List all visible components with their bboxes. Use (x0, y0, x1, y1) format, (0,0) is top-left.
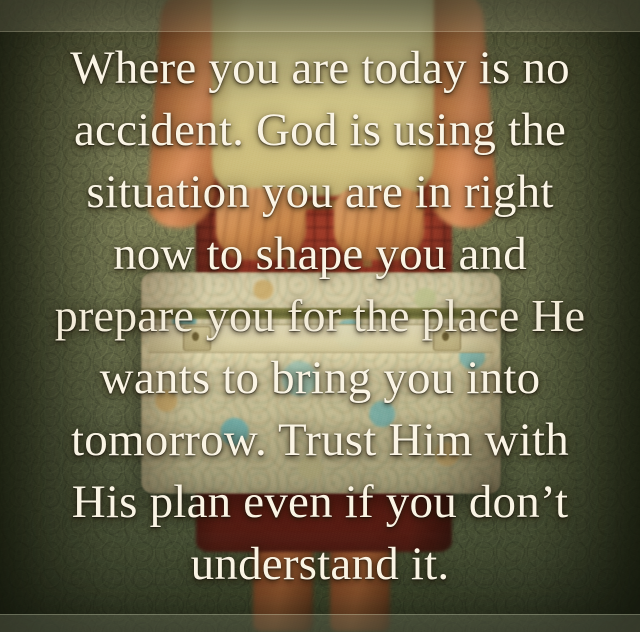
quote-line-2: accident. God is using the (0, 99, 640, 161)
quote-line-5: prepare you for the place He (0, 285, 640, 347)
quote-line-7: tomorrow. Trust Him with (0, 409, 640, 471)
quote-line-4: now to shape you and (0, 223, 640, 285)
quote-line-6: wants to bring you into (0, 347, 640, 409)
quote-line-1: Where you are today is no (0, 37, 640, 99)
quote-line-8: His plan even if you don’t (0, 471, 640, 533)
quote-line-3: situation you are in right (0, 161, 640, 223)
quote-text-block: Where you are today is no accident. God … (0, 0, 640, 632)
quote-image: Where you are today is no accident. God … (0, 0, 640, 632)
quote-line-9: understand it. (0, 533, 640, 595)
